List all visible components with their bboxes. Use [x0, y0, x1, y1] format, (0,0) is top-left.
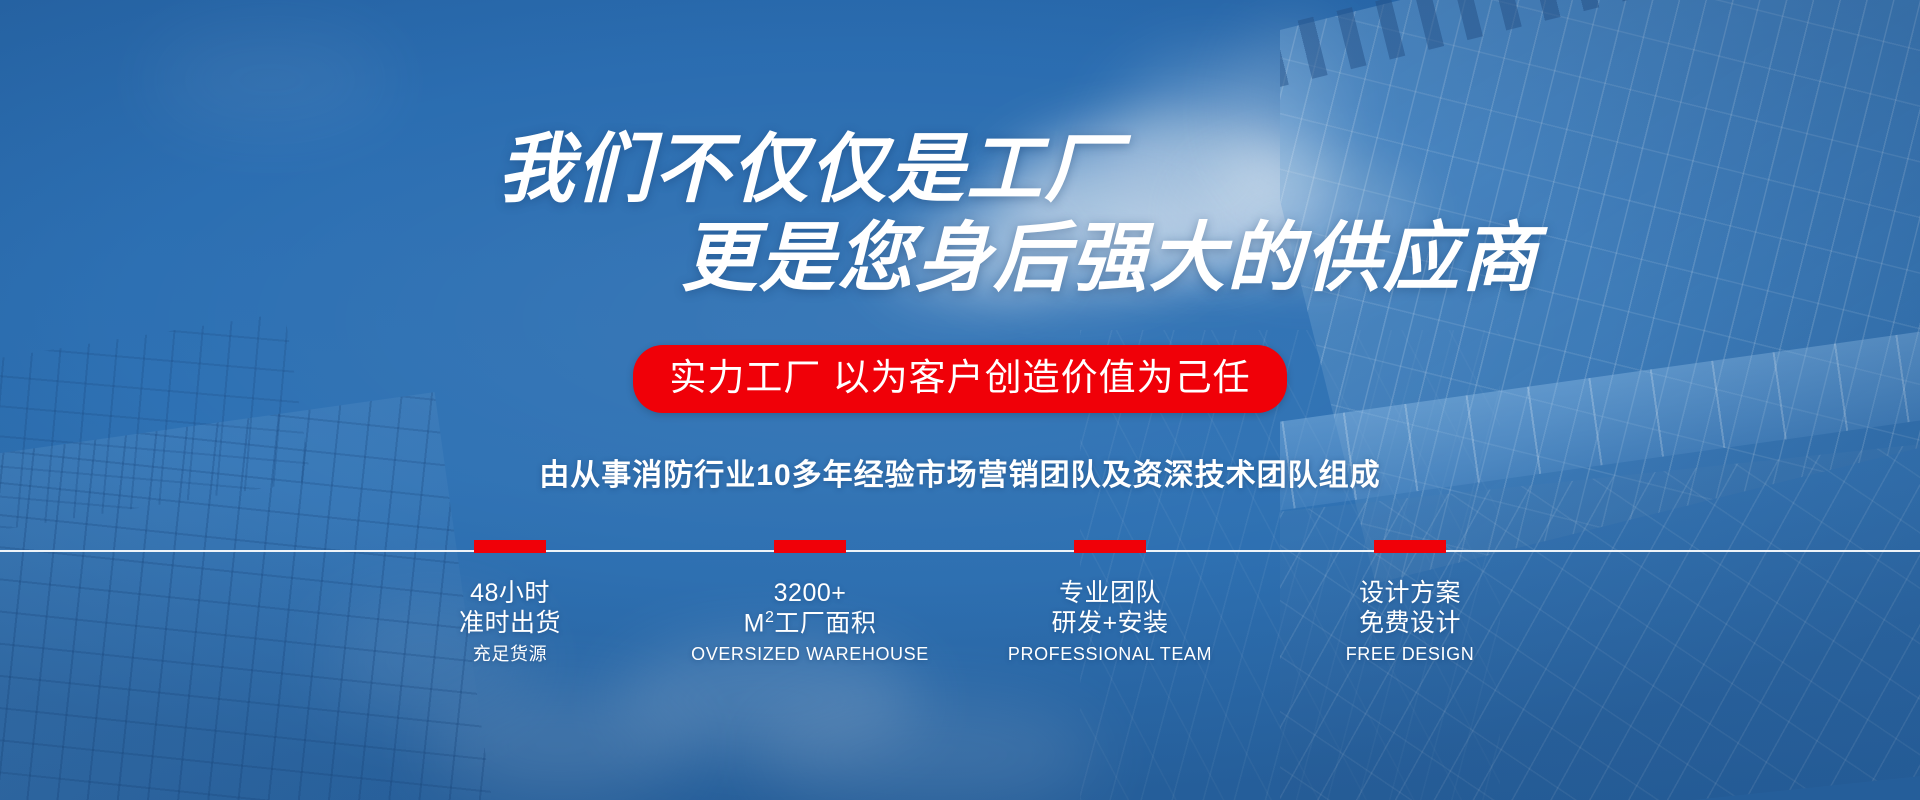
subtitle: 由从事消防行业10多年经验市场营销团队及资深技术团队组成: [0, 450, 1920, 494]
feature-accent-bar: [1374, 540, 1446, 553]
feature-title: 专业团队: [960, 579, 1260, 609]
feature-caption: OVERSIZED WAREHOUSE: [660, 641, 960, 668]
feature-subtitle-prefix: M: [744, 609, 765, 637]
feature-item-design: 设计方案 免费设计 FREE DESIGN: [1260, 540, 1560, 668]
feature-caption: 充足货源: [360, 641, 660, 668]
slogan-badge: 实力工厂 以为客户创造价值为己任: [633, 345, 1286, 413]
feature-subtitle: 免费设计: [1260, 609, 1560, 639]
headline: 我们不仅仅是工厂 更是您身后强大的供应商: [0, 130, 1920, 299]
feature-accent-bar: [1074, 540, 1146, 553]
feature-accent-bar: [474, 540, 546, 553]
headline-line-2: 更是您身后强大的供应商: [0, 219, 1920, 300]
feature-item-48h: 48小时 准时出货 充足货源: [360, 540, 660, 668]
feature-subtitle: 准时出货: [360, 609, 660, 639]
feature-subtitle: M2工厂面积: [660, 609, 960, 639]
feature-subtitle-rest: 工厂面积: [774, 609, 876, 637]
headline-line-1: 我们不仅仅是工厂: [0, 130, 1920, 211]
slogan-badge-wrapper: 实力工厂 以为客户创造价值为己任: [0, 345, 1920, 413]
feature-item-team: 专业团队 研发+安装 PROFESSIONAL TEAM: [960, 540, 1260, 668]
feature-caption: FREE DESIGN: [1260, 641, 1560, 668]
feature-caption: PROFESSIONAL TEAM: [960, 641, 1260, 668]
feature-subtitle-superscript: 2: [765, 609, 774, 626]
feature-list: 48小时 准时出货 充足货源 3200+ M2工厂面积 OVERSIZED WA…: [360, 540, 1560, 668]
feature-title: 48小时: [360, 579, 660, 609]
feature-accent-bar: [774, 540, 846, 553]
feature-item-warehouse: 3200+ M2工厂面积 OVERSIZED WAREHOUSE: [660, 540, 960, 668]
hero-banner: 我们不仅仅是工厂 更是您身后强大的供应商 实力工厂 以为客户创造价值为己任 由从…: [0, 0, 1920, 800]
feature-title: 设计方案: [1260, 579, 1560, 609]
feature-subtitle: 研发+安装: [960, 609, 1260, 639]
feature-title: 3200+: [660, 579, 960, 609]
banner-content: 我们不仅仅是工厂 更是您身后强大的供应商 实力工厂 以为客户创造价值为己任 由从…: [0, 0, 1920, 800]
